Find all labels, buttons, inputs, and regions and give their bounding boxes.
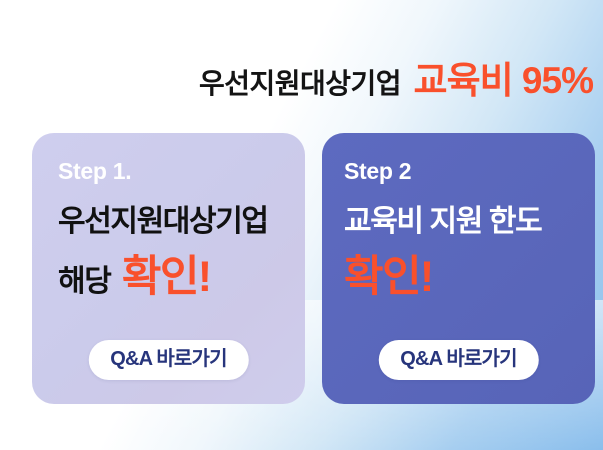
- step-card-2-step-label: Step 2: [322, 159, 595, 184]
- step-card-1-accent-text: 확인!: [122, 253, 211, 301]
- step-card-2-qa-button[interactable]: Q&A 바로가기: [378, 340, 538, 380]
- step-card-2-accent-line: 확인!: [322, 254, 595, 301]
- headline-accent-text: 교육비 95%: [414, 60, 593, 101]
- step-card-1-headline: 우선지원대상기업: [32, 205, 305, 239]
- step-card-1-step-label: Step 1.: [32, 159, 305, 184]
- step-card-2[interactable]: Step 2 교육비 지원 한도 확인! Q&A 바로가기: [322, 133, 595, 404]
- step-card-2-accent-text: 확인!: [344, 253, 433, 301]
- step-card-2-qa-button-label: Q&A 바로가기: [400, 348, 516, 370]
- step-card-1-accent-line: 해당 확인!: [32, 254, 305, 301]
- step-card-2-headline: 교육비 지원 한도: [322, 205, 595, 239]
- banner-headline: 우선지원대상기업 교육비 95%: [0, 50, 603, 104]
- step-card-1-qa-button-label: Q&A 바로가기: [110, 348, 226, 370]
- step-card-1-qa-button[interactable]: Q&A 바로가기: [88, 340, 248, 380]
- promo-banner: 우선지원대상기업 교육비 95% Step 1. 우선지원대상기업 해당 확인!…: [0, 0, 603, 450]
- step-card-1[interactable]: Step 1. 우선지원대상기업 해당 확인! Q&A 바로가기: [32, 133, 305, 404]
- headline-lead-text: 우선지원대상기업: [199, 68, 401, 99]
- step-card-1-accent-prefix: 해당: [58, 265, 110, 298]
